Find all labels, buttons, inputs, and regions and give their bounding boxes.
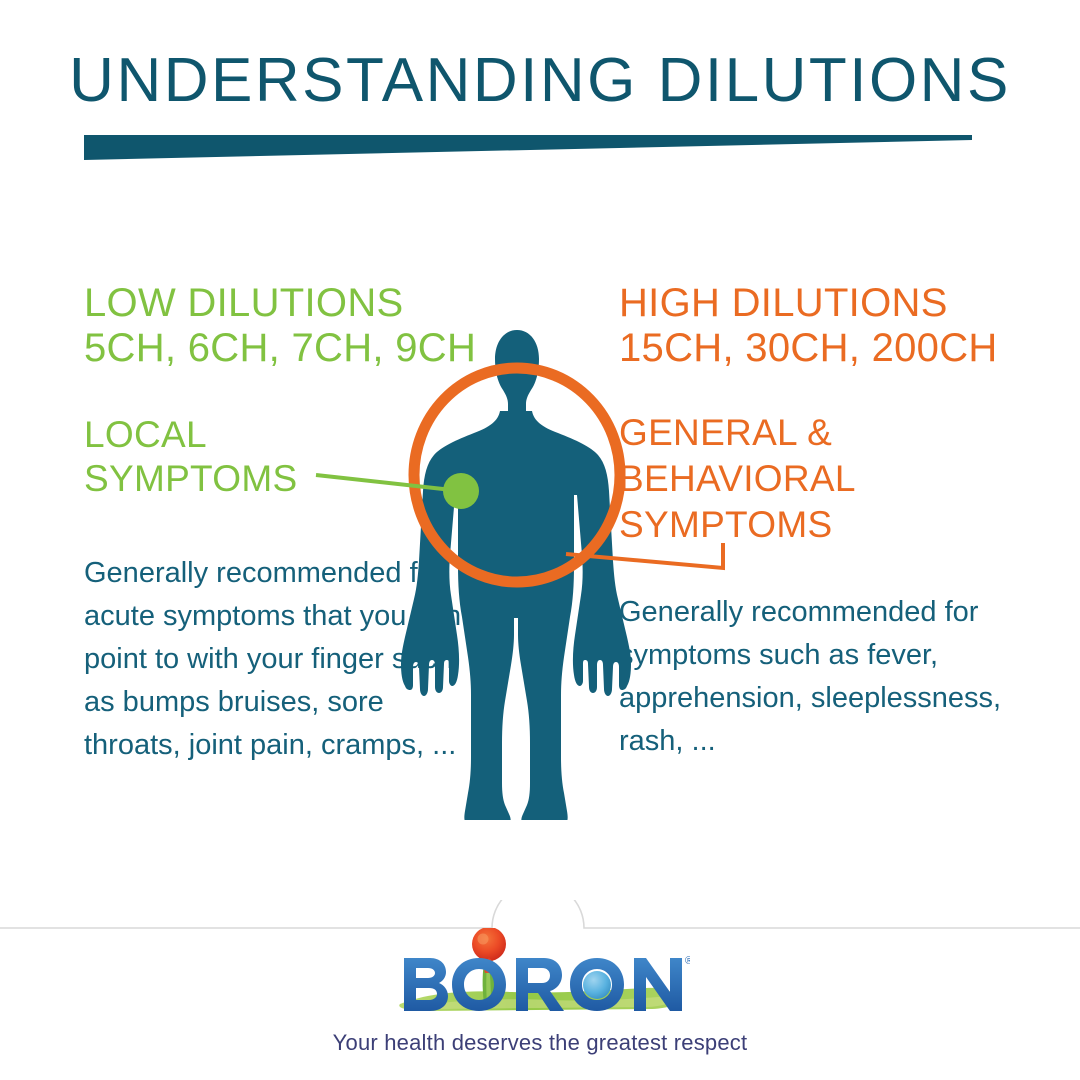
general-symptoms-label: GENERAL & BEHAVIORAL SYMPTOMS [619, 410, 969, 548]
title-rule [84, 135, 972, 165]
low-dilutions-heading-line2: 5CH, 6CH, 7CH, 9CH [84, 326, 514, 371]
general-symptoms-description: Generally recommended for symptoms such … [619, 591, 1019, 763]
header: UNDERSTANDING DILUTIONS [0, 0, 1080, 185]
footer: ® Your health deserves the greatest resp… [0, 900, 1080, 1080]
general-symptoms-label-line2: BEHAVIORAL [619, 456, 969, 502]
high-dilutions-heading: HIGH DILUTIONS 15CH, 30CH, 200CH [619, 281, 1049, 371]
low-dilutions-heading: LOW DILUTIONS 5CH, 6CH, 7CH, 9CH [84, 281, 514, 371]
infographic-page: UNDERSTANDING DILUTIONS LOW DILUTIONS 5C… [0, 0, 1080, 1080]
low-dilutions-heading-line1: LOW DILUTIONS [84, 281, 514, 326]
general-symptoms-label-line1: GENERAL & [619, 410, 969, 456]
footer-tagline: Your health deserves the greatest respec… [0, 1030, 1080, 1056]
local-symptoms-label-line2: SYMPTOMS [84, 457, 384, 501]
high-dilutions-heading-line2: 15CH, 30CH, 200CH [619, 326, 1049, 371]
local-symptoms-marker [443, 473, 479, 509]
high-dilutions-heading-line1: HIGH DILUTIONS [619, 281, 1049, 326]
high-dilution-focus-circle [414, 368, 620, 582]
logo-registered-mark: ® [685, 955, 690, 967]
local-symptoms-description: Generally recommended for acute symptoms… [84, 552, 484, 767]
local-symptoms-label: LOCAL SYMPTOMS [84, 413, 384, 501]
boiron-logo[interactable]: ® [390, 928, 690, 1023]
logo-o-dot [583, 971, 611, 999]
general-symptoms-label-line3: SYMPTOMS [619, 502, 969, 548]
local-symptoms-label-line1: LOCAL [84, 413, 384, 457]
page-title: UNDERSTANDING DILUTIONS [0, 48, 1080, 114]
